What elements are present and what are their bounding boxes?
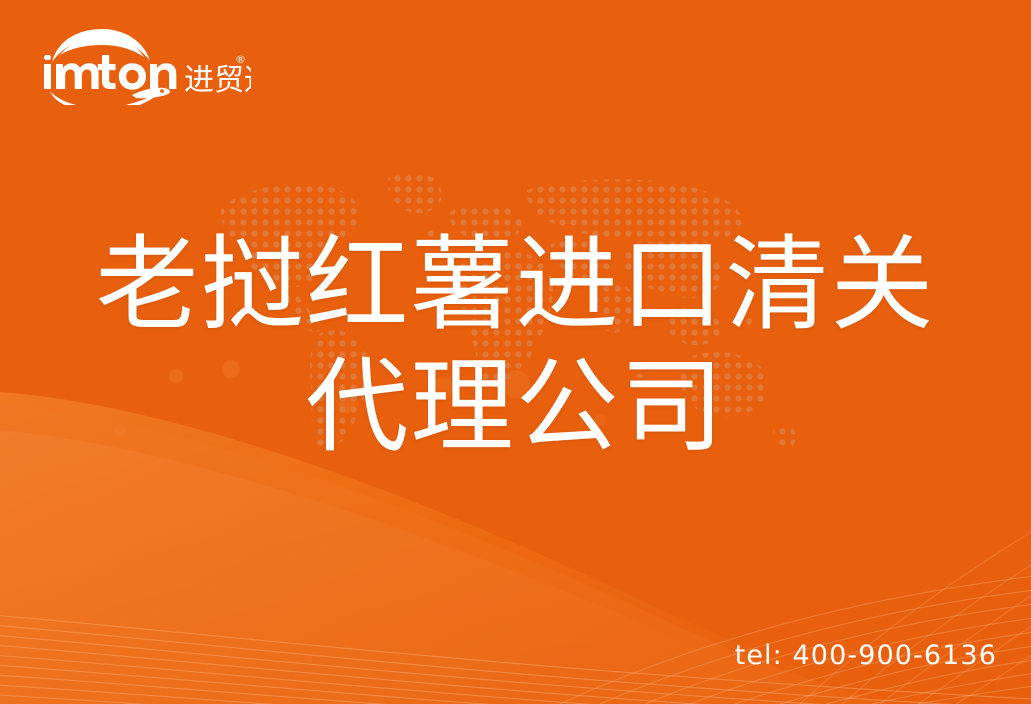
logo-chinese-text: 进贸通 [184,63,251,98]
page-title-line-2: 代理公司 [0,346,1031,468]
trademark-icon: ® [235,53,246,66]
page-title: 老挝红薯进口清关 代理公司 [0,224,1031,468]
page-title-line-1: 老挝红薯进口清关 [0,224,1031,346]
imton-logo[interactable]: 进贸通 ® [36,27,251,105]
globe-arc-icon [52,29,150,64]
swoosh-icon [50,87,170,105]
promo-banner: 进贸通 ® 老挝红薯进口清关 代理公司 tel: 400-900-6136 [0,0,1031,704]
logo-wordmark [44,55,176,90]
contact-phone[interactable]: tel: 400-900-6136 [735,640,997,671]
